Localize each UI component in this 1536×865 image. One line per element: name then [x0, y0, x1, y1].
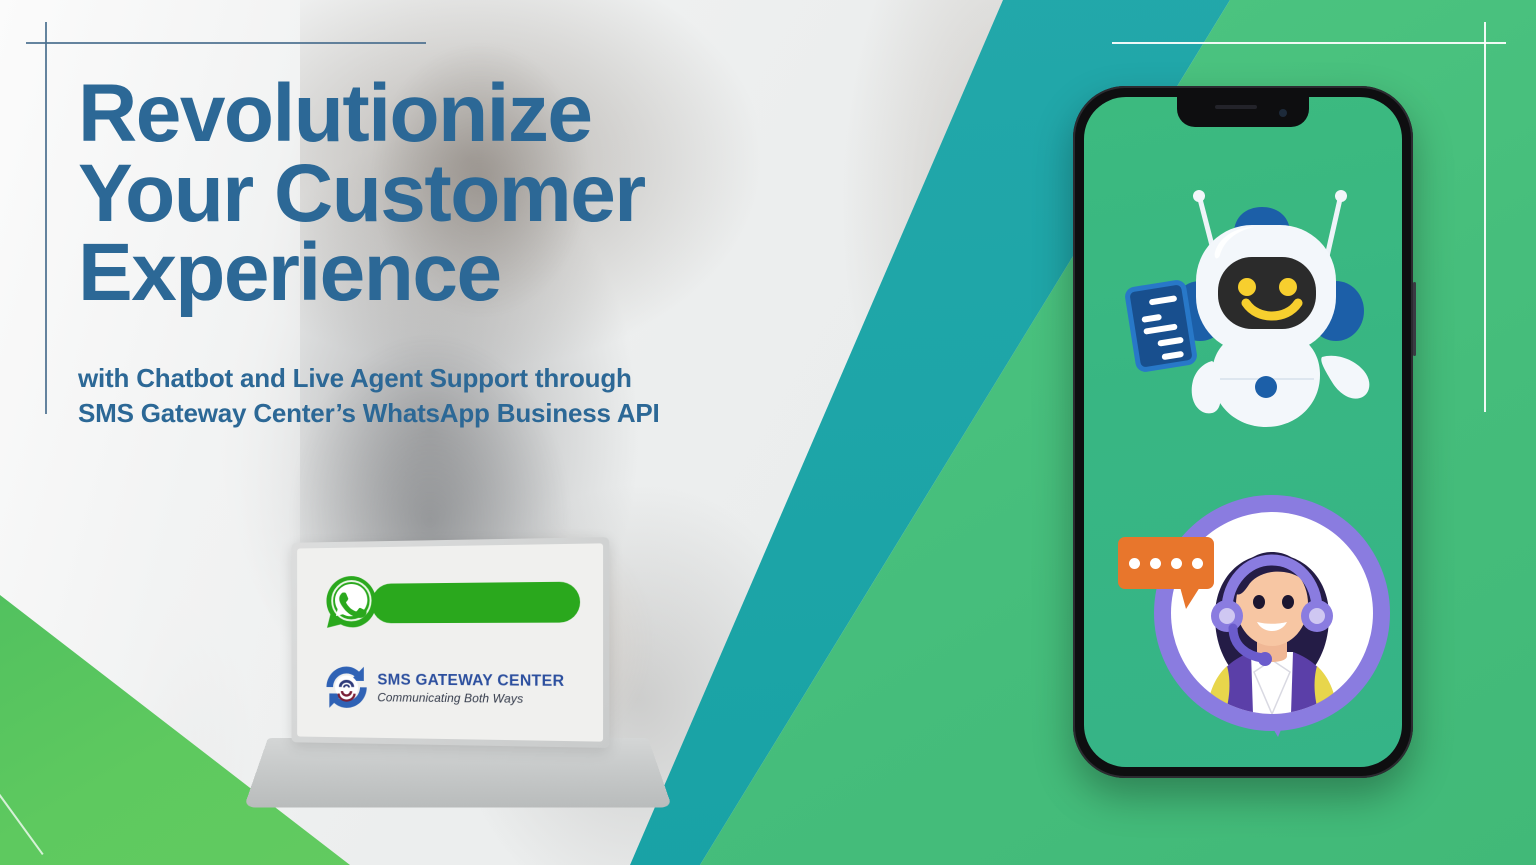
bracket-top-right-horizontal — [1112, 42, 1506, 44]
typing-indicator-bubble — [1118, 537, 1214, 589]
sgc-circular-arrow-icon — [322, 662, 372, 713]
page-title: Revolutionize Your Customer Experience — [78, 74, 908, 313]
whatsapp-row — [322, 570, 580, 634]
headline-line-1: Revolutionize — [78, 74, 908, 154]
phone-side-button[interactable] — [1413, 282, 1416, 356]
phone-notch — [1177, 97, 1309, 127]
bracket-top-left-horizontal — [26, 42, 426, 44]
laptop-lid: SMS GATEWAY CENTER Communicating Both Wa… — [291, 537, 609, 748]
wedge-accent-line — [0, 645, 44, 855]
sgc-logo-row: SMS GATEWAY CENTER Communicating Both Wa… — [322, 662, 580, 716]
typing-dot — [1150, 558, 1161, 569]
subtitle-line-2: SMS Gateway Center’s WhatsApp Business A… — [78, 396, 908, 431]
whatsapp-accent-bar — [372, 582, 581, 624]
avatar-ring — [1154, 495, 1390, 731]
brand-tagline: Communicating Both Ways — [377, 690, 564, 706]
brand-name: SMS GATEWAY CENTER — [377, 671, 564, 690]
brand-logo-card: SMS GATEWAY CENTER Communicating Both Wa… — [322, 570, 580, 715]
typing-dot — [1129, 558, 1140, 569]
headline-line-2: Your Customer — [78, 154, 908, 234]
phone-speaker-icon — [1215, 105, 1257, 109]
typing-dot — [1171, 558, 1182, 569]
sgc-wordmark: SMS GATEWAY CENTER Communicating Both Wa… — [377, 671, 564, 706]
whatsapp-icon — [322, 573, 382, 634]
laptop-screen: SMS GATEWAY CENTER Communicating Both Wa… — [297, 543, 603, 741]
subtitle: with Chatbot and Live Agent Support thro… — [78, 361, 908, 431]
live-agent-avatar — [1118, 495, 1400, 745]
phone-camera-icon — [1279, 109, 1287, 117]
laptop-keyboard-base — [244, 738, 672, 807]
subtitle-line-1: with Chatbot and Live Agent Support thro… — [78, 361, 908, 396]
typing-dot — [1192, 558, 1203, 569]
headline-line-3: Experience — [78, 233, 908, 313]
chatbot-robot-icon — [1108, 161, 1402, 441]
robot-tablet-icon — [1124, 279, 1199, 374]
bracket-top-right-vertical — [1484, 22, 1486, 412]
laptop-illustration: SMS GATEWAY CENTER Communicating Both Wa… — [268, 540, 668, 865]
headline-block: Revolutionize Your Customer Experience w… — [78, 74, 908, 431]
phone-screen — [1084, 97, 1402, 767]
marketing-banner: Revolutionize Your Customer Experience w… — [0, 0, 1536, 865]
smartphone-mockup — [1073, 86, 1413, 778]
bracket-top-left-vertical — [45, 22, 47, 414]
